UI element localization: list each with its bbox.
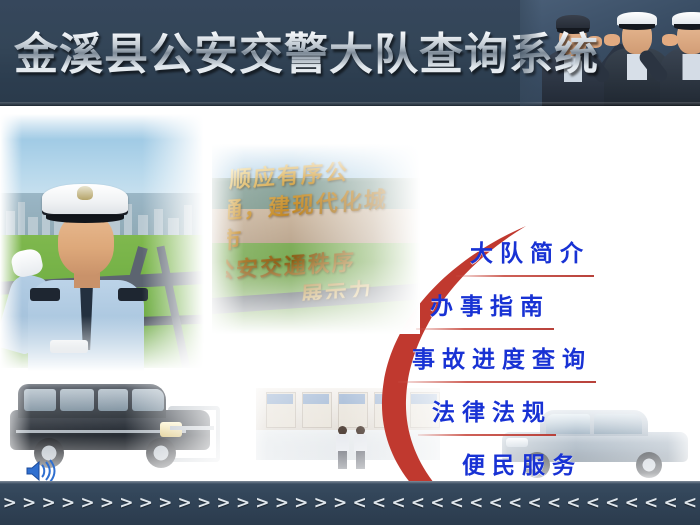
chevron-right-icon: > <box>97 495 116 512</box>
chevron-right-icon: > <box>58 495 77 512</box>
chevron-left-icon: < <box>408 495 427 512</box>
chevron-left-icon: < <box>622 495 641 512</box>
officer-figure <box>660 6 700 106</box>
chevron-left-icon: < <box>525 495 544 512</box>
chevron-right-icon: > <box>233 495 252 512</box>
main-menu: 大队简介 办事指南 事故进度查询 法律法规 便民服务 交警风采 <box>400 224 690 481</box>
chevron-right-icon: > <box>78 495 97 512</box>
menu-item-public-service[interactable]: 便民服务 <box>462 446 582 480</box>
menu-underline <box>416 328 554 330</box>
chevron-left-icon: < <box>505 495 524 512</box>
chevron-right-icon: > <box>330 495 349 512</box>
chevron-left-icon: < <box>544 495 563 512</box>
chevron-right-icon: > <box>136 495 155 512</box>
chevron-left-icon: < <box>447 495 466 512</box>
officer-city-photo <box>0 114 212 376</box>
chevron-right-icon: > <box>175 495 194 512</box>
app-root: 金溪县公安交警大队查询系统 <box>0 0 700 525</box>
menu-underline <box>456 275 594 277</box>
chevron-left-icon: < <box>467 495 486 512</box>
chevron-left-icon: < <box>486 495 505 512</box>
menu-item-accident-progress-query[interactable]: 事故进度查询 <box>412 340 592 374</box>
chevron-left-icon: < <box>369 495 388 512</box>
chevron-right-icon: > <box>156 495 175 512</box>
main-stage: 顺应有序公 通，建现代化城市 公安交通秩序 展示力量 <box>0 106 700 481</box>
menu-item-label: 事故进度查询 <box>412 346 592 373</box>
menu-underline <box>398 381 596 383</box>
page-header: 金溪县公安交警大队查询系统 <box>0 0 700 106</box>
chevron-right-icon: > <box>272 495 291 512</box>
chevron-right-icon: > <box>117 495 136 512</box>
chevron-right-icon: > <box>253 495 272 512</box>
menu-item-label: 法律法规 <box>432 399 552 426</box>
chevron-right-icon: > <box>194 495 213 512</box>
chevron-left-icon: < <box>389 495 408 512</box>
sound-control: 开 关 <box>6 459 68 481</box>
menu-item-label: 办事指南 <box>430 293 550 320</box>
chevron-left-icon: < <box>564 495 583 512</box>
chevron-decoration-row: >>>>>>>>>>>>>>>>>><<<<<<<<<<<<<<<<<< <box>0 492 700 514</box>
menu-item-service-guide[interactable]: 办事指南 <box>430 287 550 321</box>
menu-item-laws-regulations[interactable]: 法律法规 <box>432 393 552 427</box>
chevron-right-icon: > <box>214 495 233 512</box>
chevron-right-icon: > <box>292 495 311 512</box>
menu-item-brigade-intro[interactable]: 大队简介 <box>470 234 590 268</box>
chevron-right-icon: > <box>19 495 38 512</box>
calligraphy-text: 顺应有序公 通，建现代化城市 公安交通秩序 展示力量 <box>225 154 399 307</box>
speaker-icon[interactable] <box>24 459 58 481</box>
chevron-left-icon: < <box>641 495 660 512</box>
chevron-left-icon: < <box>680 495 699 512</box>
calligraphy-line-4: 展示力量 <box>299 274 395 334</box>
page-title: 金溪县公安交警大队查询系统 <box>14 13 599 87</box>
calligraphy-city-photo: 顺应有序公 通，建现代化城市 公安交通秩序 展示力量 <box>205 144 420 334</box>
menu-item-label: 便民服务 <box>462 452 582 479</box>
menu-item-label: 大队简介 <box>470 240 590 267</box>
chevron-left-icon: < <box>428 495 447 512</box>
chevron-right-icon: > <box>39 495 58 512</box>
chevron-left-icon: < <box>603 495 622 512</box>
chevron-right-icon: > <box>311 495 330 512</box>
page-footer: >>>>>>>>>>>>>>>>>><<<<<<<<<<<<<<<<<< <box>0 481 700 525</box>
chevron-left-icon: < <box>350 495 369 512</box>
chevron-left-icon: < <box>661 495 680 512</box>
chevron-left-icon: < <box>583 495 602 512</box>
chevron-right-icon: > <box>0 495 19 512</box>
menu-underline <box>418 434 556 436</box>
